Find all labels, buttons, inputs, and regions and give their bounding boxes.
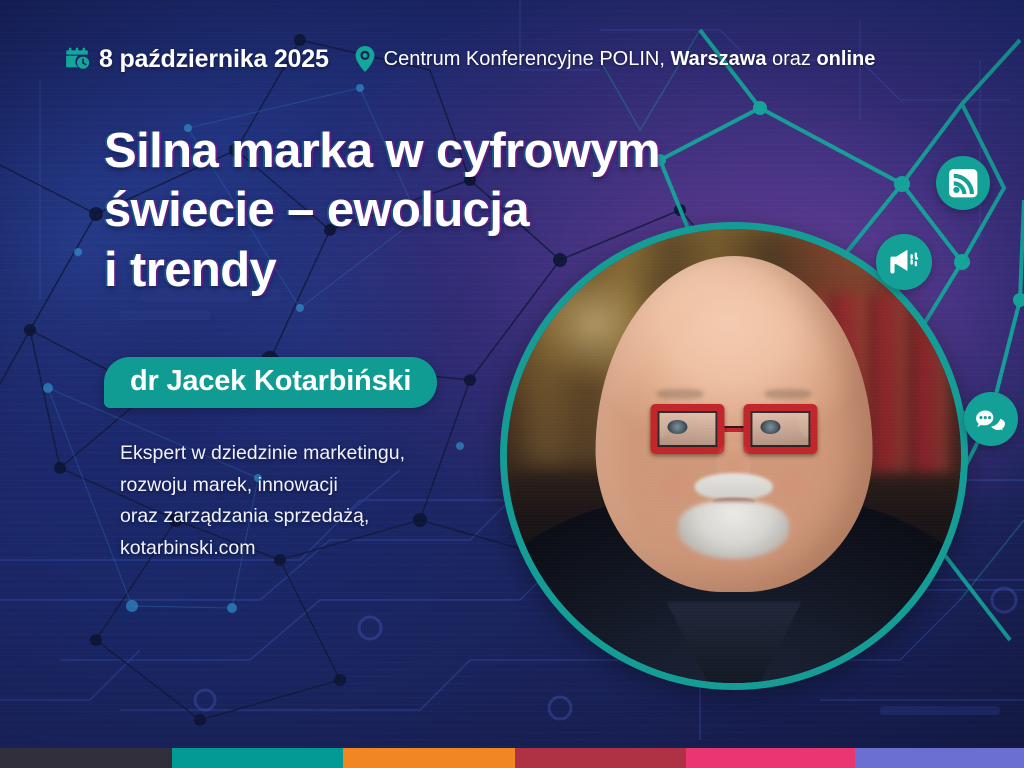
bio-line-2: rozwoju marek, innowacji <box>120 470 405 502</box>
rss-feed-icon[interactable] <box>936 156 990 210</box>
megaphone-icon[interactable] <box>876 234 932 290</box>
bar-segment-pink <box>686 748 855 768</box>
bio-line-3: oraz zarządzania sprzedażą, <box>120 501 405 533</box>
bio-line-1: Ekspert w dziedzinie marketingu, <box>120 438 405 470</box>
title-line-3: i trendy <box>104 241 660 300</box>
title-line-2: świecie – ewolucja <box>104 181 660 240</box>
event-date: 8 października 2025 <box>99 45 329 74</box>
rss-glyph <box>947 167 979 199</box>
event-venue: Centrum Konferencyjne POLIN, Warszawa or… <box>384 48 876 71</box>
bar-segment-red <box>515 748 686 768</box>
presentation-title: Silna marka w cyfrowym świecie – ewolucj… <box>104 122 660 300</box>
venue-middle: oraz <box>766 48 816 70</box>
venue-mode: online <box>816 48 875 70</box>
chat-bubbles-icon[interactable] <box>964 392 1018 446</box>
bar-segment-indigo <box>855 748 1024 768</box>
speaker-bio: Ekspert w dziedzinie marketingu, rozwoju… <box>120 438 405 564</box>
event-meta-row: 8 października 2025 Centrum Konferencyjn… <box>64 40 875 78</box>
bio-line-4: kotarbinski.com <box>120 533 405 565</box>
speaker-announcement-banner: 8 października 2025 Centrum Konferencyjn… <box>0 0 1024 768</box>
megaphone-glyph <box>887 245 921 279</box>
map-pin-icon <box>355 46 375 72</box>
title-line-1: Silna marka w cyfrowym <box>104 122 660 181</box>
speaker-name-badge: dr Jacek Kotarbiński <box>104 357 437 408</box>
brand-color-bar <box>0 748 1024 768</box>
chat-glyph <box>975 403 1007 435</box>
bar-segment-teal <box>172 748 343 768</box>
bar-segment-dark <box>0 748 172 768</box>
calendar-clock-icon <box>64 46 90 72</box>
venue-prefix: Centrum Konferencyjne POLIN, <box>384 48 671 70</box>
venue-city: Warszawa <box>670 48 766 70</box>
bar-segment-orange <box>343 748 515 768</box>
